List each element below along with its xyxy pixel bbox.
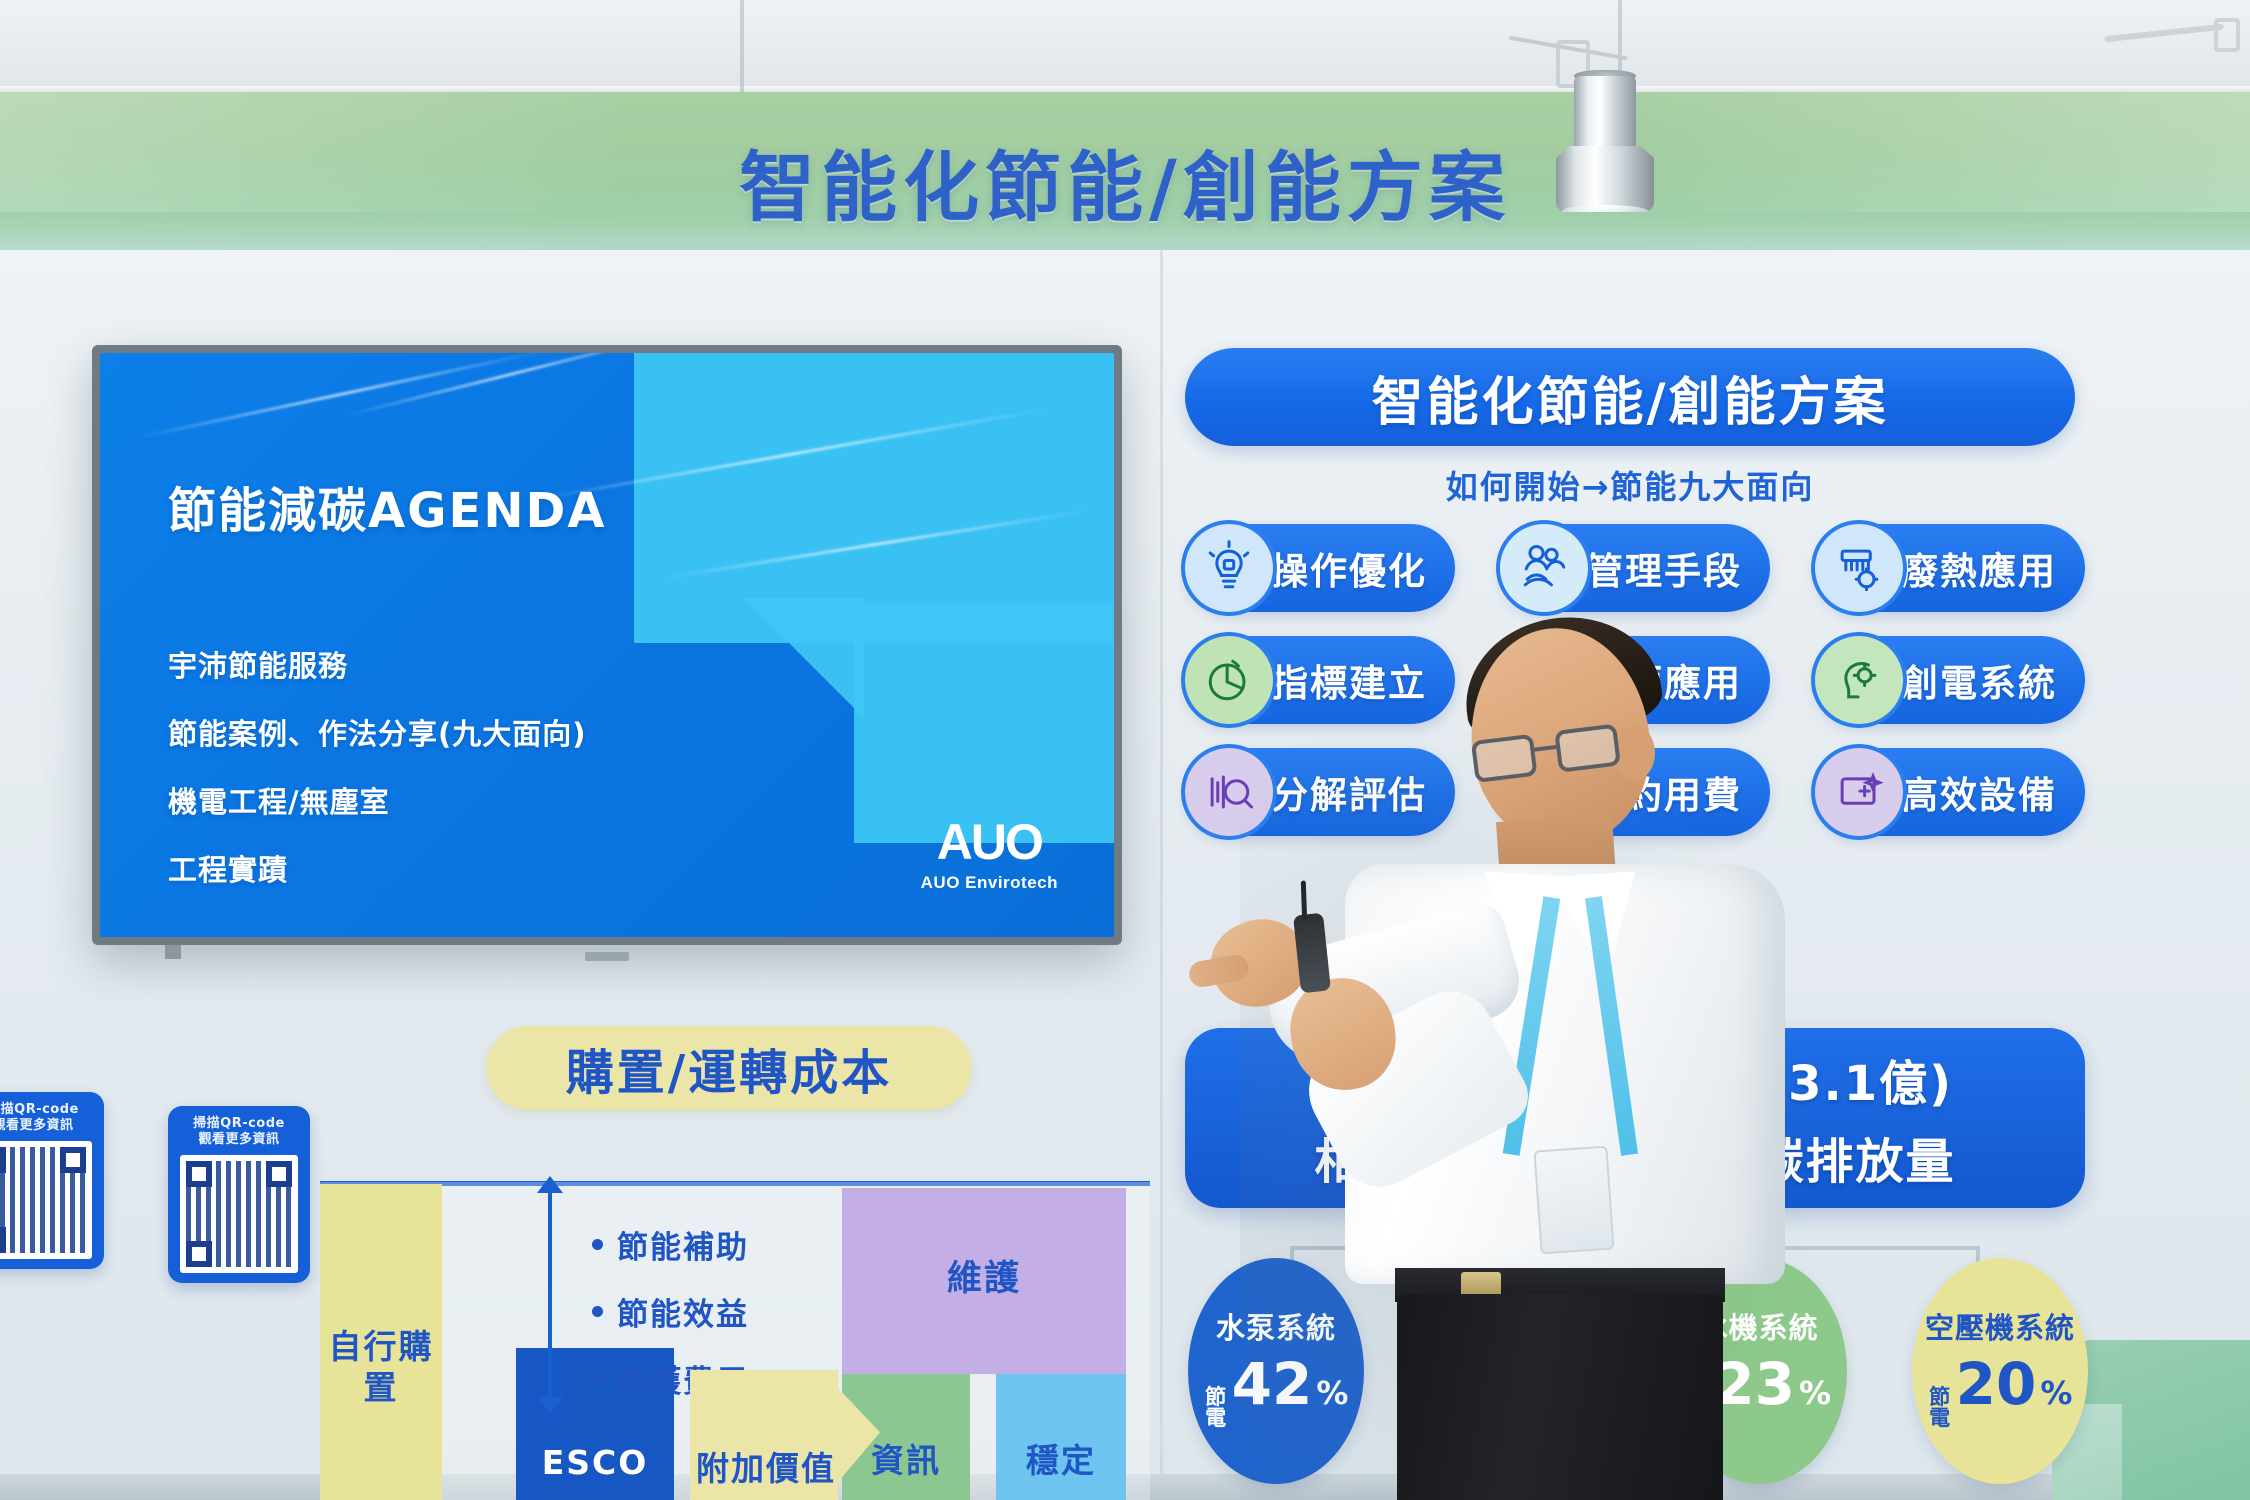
- qr-caption-line2: 觀看更多資訊: [0, 1118, 79, 1134]
- auo-logo-mark: AUO: [921, 817, 1058, 867]
- qr-caption: 掃描QR-code 觀看更多資訊: [193, 1116, 285, 1149]
- qr-marker: [186, 1241, 212, 1267]
- pie-chart-icon: [1181, 632, 1277, 728]
- aspect-chip-label: 廢熱應用: [1901, 541, 2057, 595]
- tv-display[interactable]: 節能減碳AGENDA 宇沛節能服務 節能案例、作法分享(九大面向) 機電工程/無…: [92, 345, 1122, 945]
- lightbulb-icon: [1181, 520, 1277, 616]
- slide-bullet: 機電工程/無塵室: [168, 779, 587, 821]
- cost-benefit-label: 節能效益: [617, 1289, 749, 1334]
- slide-shape: [634, 353, 1114, 643]
- slide-shape: [854, 603, 1114, 843]
- wall-seam: [1160, 250, 1163, 1500]
- presenter: [1285, 628, 1845, 1500]
- slide-bullet: 節能案例、作法分享(九大面向): [168, 711, 587, 753]
- spotlight-neck: [1574, 76, 1636, 154]
- poster-header-pill: 智能化節能/創能方案: [1185, 348, 2075, 446]
- auo-logo-subtitle: AUO Envirotech: [921, 873, 1058, 893]
- cost-section-title-pill: 購置/運轉成本: [486, 1026, 972, 1110]
- aspect-chip-management[interactable]: 管理手段: [1500, 524, 1770, 612]
- aspect-chip-label: 操作優化: [1271, 541, 1427, 595]
- qr-card-left-edge[interactable]: 掃描QR-code 觀看更多資訊: [0, 1092, 104, 1269]
- scene-root: 智能化節能/創能方案 節能減碳AGENDA 宇沛節能服務 節能案例、作法分享(九…: [0, 0, 2250, 1500]
- oval-prefix: 節電: [1204, 1387, 1228, 1429]
- oval-system-name: 空壓機系統: [1925, 1313, 2075, 1345]
- slide-streak: [345, 353, 676, 417]
- tv-screen: 節能減碳AGENDA 宇沛節能服務 節能案例、作法分享(九大面向) 機電工程/無…: [100, 353, 1114, 937]
- booth-banner-title: 智能化節能/創能方案: [0, 126, 2250, 236]
- presenter-trousers: [1397, 1294, 1723, 1500]
- aspect-chip-label: 管理手段: [1586, 541, 1742, 595]
- glasses-bridge: [1534, 745, 1556, 752]
- aspect-chip-label: 高效設備: [1901, 765, 2057, 819]
- ceiling: [0, 0, 2250, 96]
- slide-bullet: 工程實蹟: [168, 847, 587, 889]
- cost-benefit-item: 節能效益: [592, 1289, 749, 1334]
- cost-bar-label: 穩定: [996, 1434, 1126, 1482]
- ceiling-panel-line: [740, 0, 744, 92]
- cost-section-title: 購置/運轉成本: [566, 1033, 893, 1103]
- cost-bar-label: 自行購置: [320, 1326, 442, 1409]
- qr-caption-line2: 觀看更多資訊: [193, 1132, 285, 1148]
- slide-shape: [744, 598, 864, 718]
- qr-marker: [0, 1147, 6, 1173]
- tv-brand-badge: [585, 952, 629, 961]
- poster-header-text: 智能化節能/創能方案: [1372, 360, 1889, 435]
- oval-value: 20: [1956, 1355, 2037, 1413]
- savings-oval: 空壓機系統 節電 20 %: [1912, 1258, 2088, 1484]
- aspect-chip-operation-optimization[interactable]: 操作優化: [1185, 524, 1455, 612]
- spotlight-fixture: [1498, 18, 1708, 208]
- factory-gear-icon: [1811, 520, 1907, 616]
- spotlight-head: [1556, 146, 1654, 212]
- oval-unit: %: [2040, 1374, 2072, 1412]
- cost-benefit-label: 節能補助: [617, 1222, 749, 1267]
- slide-title: 節能減碳AGENDA: [168, 471, 607, 541]
- presenter-id-badge: [1533, 1146, 1614, 1255]
- qr-caption-line1: 掃描QR-code: [0, 1102, 79, 1118]
- qr-caption: 掃描QR-code 觀看更多資訊: [0, 1102, 79, 1135]
- slide-streak: [134, 353, 545, 440]
- qr-code-image: [0, 1141, 92, 1259]
- qr-marker: [0, 1227, 6, 1253]
- qr-code-image: [180, 1155, 298, 1273]
- poster-subhead: 如何開始→節能九大面向: [1185, 462, 2075, 508]
- qr-marker: [186, 1161, 212, 1187]
- people-care-icon: [1496, 520, 1592, 616]
- qr-caption-line1: 掃描QR-code: [193, 1116, 285, 1132]
- aspect-chip-high-efficiency-equipment[interactable]: 高效設備: [1815, 748, 2085, 836]
- cost-benefit-item: 節能補助: [592, 1222, 749, 1267]
- cost-bar-self-purchase: 自行購置: [320, 1184, 442, 1500]
- bullet-dot: [592, 1373, 603, 1384]
- qr-card-main[interactable]: 掃描QR-code 觀看更多資訊: [168, 1106, 310, 1283]
- aspect-chip-waste-heat[interactable]: 廢熱應用: [1815, 524, 2085, 612]
- qr-marker: [266, 1161, 292, 1187]
- bullet-dot: [592, 1239, 603, 1250]
- cost-gap-arrow: [548, 1190, 552, 1400]
- glasses-lens-left: [1471, 734, 1538, 783]
- ceiling-rail-clip: [2214, 18, 2240, 52]
- cost-bar-stability: 穩定: [996, 1352, 1126, 1500]
- data-search-icon: [1181, 744, 1277, 840]
- glasses-lens-right: [1554, 724, 1621, 773]
- aspect-chip-label: 創電系統: [1901, 653, 2057, 707]
- cost-bar-maintenance: 維護: [842, 1188, 1126, 1374]
- oval-prefix: 節電: [1928, 1387, 1952, 1429]
- bullet-dot: [592, 1306, 603, 1317]
- cost-bar-label: 維護: [842, 1250, 1126, 1301]
- tv-wall-mount: [165, 945, 181, 959]
- aspect-chip-power-generation[interactable]: 創電系統: [1815, 636, 2085, 724]
- slide-bullet: 宇沛節能服務: [168, 643, 587, 685]
- cost-bar-label: ESCO: [516, 1443, 674, 1482]
- auo-logo: AUO AUO Envirotech: [921, 817, 1058, 893]
- slide-bullet-list: 宇沛節能服務 節能案例、作法分享(九大面向) 機電工程/無塵室 工程實蹟: [168, 643, 587, 889]
- qr-marker: [60, 1147, 86, 1173]
- added-value-label: 附加價值: [690, 1442, 836, 1500]
